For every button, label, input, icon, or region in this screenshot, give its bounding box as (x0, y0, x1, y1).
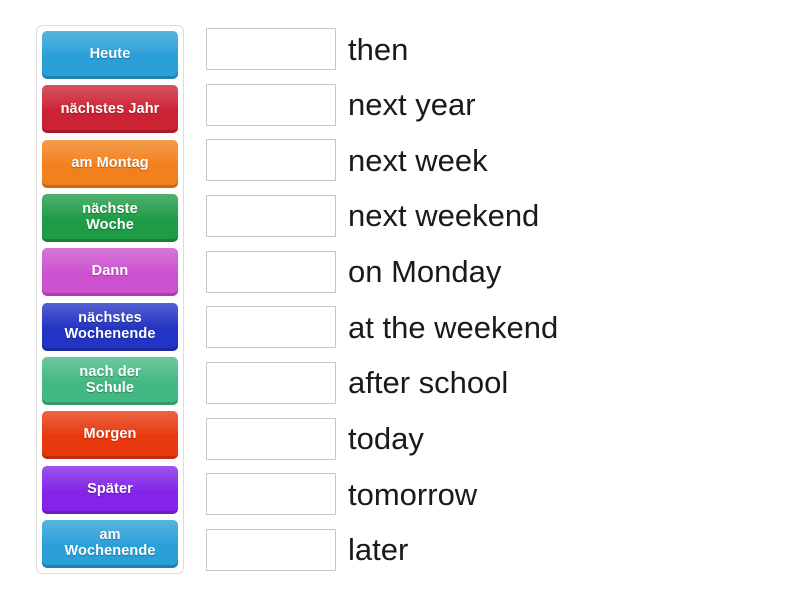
answer-label: later (348, 534, 408, 565)
answer-list: then next year next week next weekend on… (206, 25, 766, 574)
answer-row: tomorrow (206, 470, 766, 518)
draggable-tile[interactable]: nächstes Wochenende (42, 303, 178, 351)
tile-label: am Montag (71, 156, 148, 172)
drop-slot[interactable] (206, 195, 336, 237)
answer-row: at the weekend (206, 303, 766, 351)
answer-label: next weekend (348, 200, 539, 231)
answer-label: on Monday (348, 256, 501, 287)
draggable-tile[interactable]: Heute (42, 31, 178, 79)
answer-row: on Monday (206, 248, 766, 296)
drop-slot[interactable] (206, 251, 336, 293)
answer-label: next year (348, 89, 476, 120)
draggable-tile[interactable]: Später (42, 466, 178, 514)
drop-slot[interactable] (206, 418, 336, 460)
draggable-tile[interactable]: nach der Schule (42, 357, 178, 405)
answer-row: today (206, 415, 766, 463)
tile-label: Später (87, 482, 133, 498)
answer-row: then (206, 25, 766, 73)
tile-label: Dann (92, 264, 129, 280)
drop-slot[interactable] (206, 362, 336, 404)
drop-slot[interactable] (206, 306, 336, 348)
drop-slot[interactable] (206, 139, 336, 181)
answer-label: then (348, 34, 408, 65)
answer-row: next year (206, 81, 766, 129)
answer-label: after school (348, 367, 508, 398)
drop-slot[interactable] (206, 529, 336, 571)
answer-label: today (348, 423, 424, 454)
draggable-tile[interactable]: nächste Woche (42, 194, 178, 242)
draggable-tile[interactable]: nächstes Jahr (42, 85, 178, 133)
tile-label: nächste Woche (82, 202, 138, 233)
drop-slot[interactable] (206, 473, 336, 515)
draggable-tile[interactable]: am Wochenende (42, 520, 178, 568)
tile-label: am Wochenende (65, 528, 156, 559)
draggable-tile[interactable]: Morgen (42, 411, 178, 459)
drop-slot[interactable] (206, 28, 336, 70)
match-up-activity: Heute nächstes Jahr am Montag nächste Wo… (0, 0, 800, 600)
answer-row: next weekend (206, 192, 766, 240)
draggable-tile[interactable]: Dann (42, 248, 178, 296)
drop-slot[interactable] (206, 84, 336, 126)
answer-label: at the weekend (348, 312, 558, 343)
answer-row: later (206, 526, 766, 574)
draggable-tile-tray: Heute nächstes Jahr am Montag nächste Wo… (36, 25, 184, 574)
tile-label: nächstes Jahr (61, 102, 160, 118)
tile-label: nach der Schule (79, 365, 140, 396)
tile-label: Morgen (84, 427, 137, 443)
answer-row: next week (206, 136, 766, 184)
answer-label: tomorrow (348, 479, 477, 510)
answer-label: next week (348, 145, 488, 176)
tile-label: nächstes Wochenende (65, 311, 156, 342)
tile-label: Heute (90, 47, 131, 63)
answer-row: after school (206, 359, 766, 407)
draggable-tile[interactable]: am Montag (42, 140, 178, 188)
